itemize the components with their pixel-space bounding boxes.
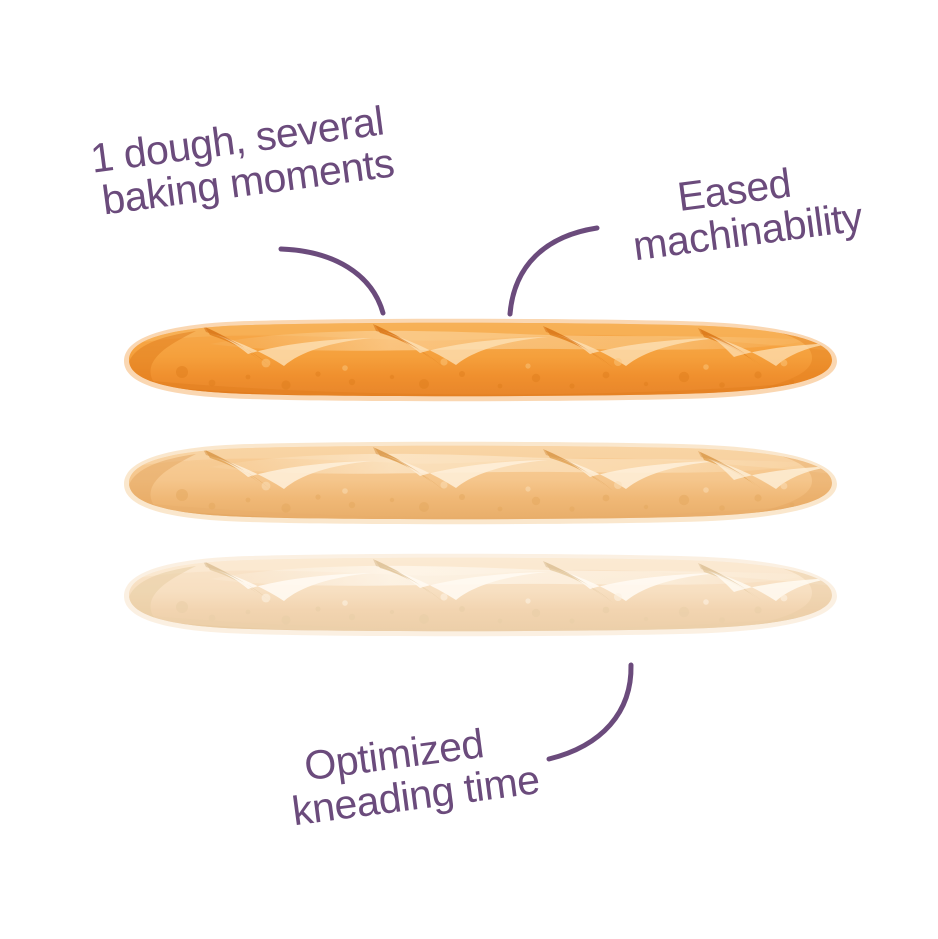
illustration-canvas: 1 dough, several baking moments Eased ma… [0,0,938,939]
baguette-light [120,535,845,636]
connector-dough-icon [281,249,383,313]
connector-machinability-icon [510,228,597,314]
connector-kneading-icon [549,665,631,759]
baguette-medium [120,423,845,524]
baguette-dark [120,300,845,401]
